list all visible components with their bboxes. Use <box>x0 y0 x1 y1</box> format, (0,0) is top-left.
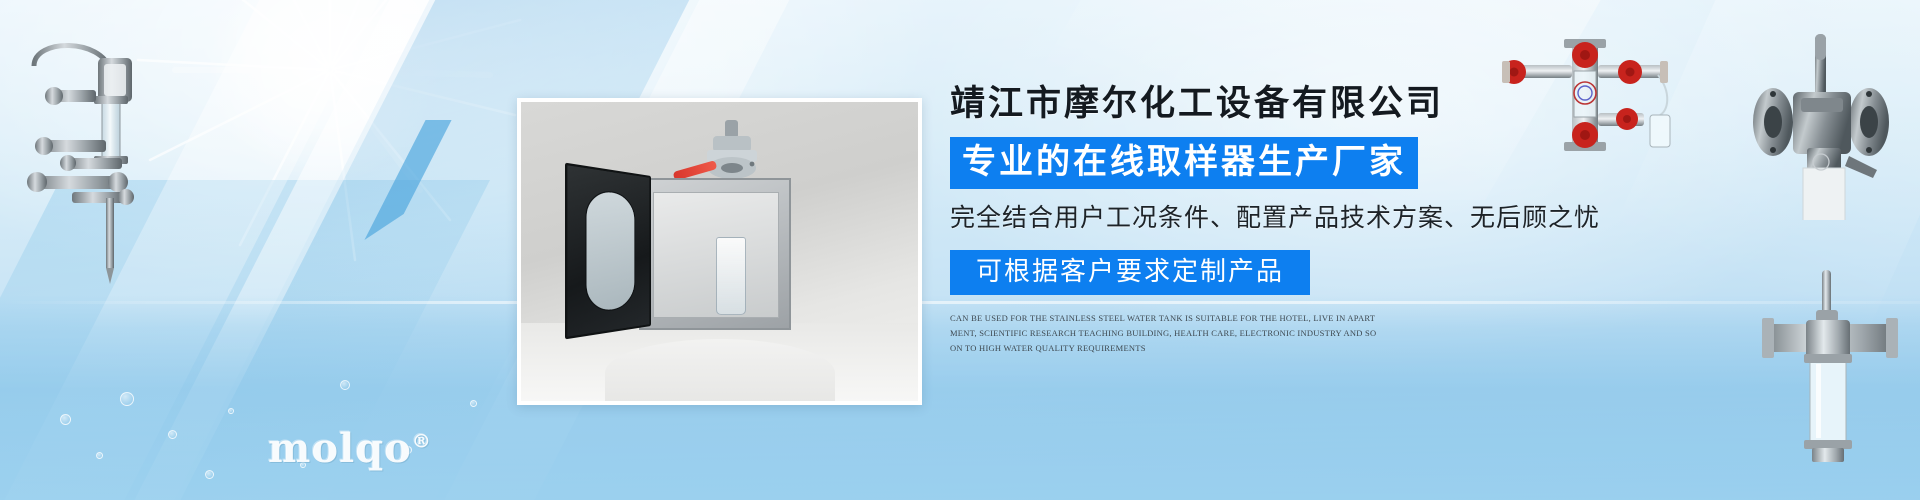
watermark-logo: molqo® <box>268 425 432 472</box>
promo-banner: 靖江市摩尔化工设备有限公司 专业的在线取样器生产厂家 完全结合用户工况条件、配置… <box>0 0 1920 500</box>
english-caption: CAN BE USED FOR THE STAINLESS STEEL WATE… <box>950 311 1380 356</box>
sampling-cabinet-photo <box>517 98 922 405</box>
company-name: 靖江市摩尔化工设备有限公司 <box>950 84 1710 124</box>
water-bubble-icon <box>340 380 350 390</box>
water-bubble-icon <box>205 470 214 479</box>
registered-mark-icon: ® <box>412 431 432 453</box>
water-bubble-icon <box>96 452 103 459</box>
sampler-assembly-image <box>10 30 185 310</box>
water-bubble-icon <box>228 408 234 414</box>
valve-head-icon <box>699 120 765 186</box>
headline-badge: 专业的在线取样器生产厂家 <box>950 137 1418 189</box>
water-bubble-icon <box>470 400 477 407</box>
sun-burst-icon <box>205 0 445 185</box>
water-bubble-icon <box>168 430 177 439</box>
sub-headline: 完全结合用户工况条件、配置产品技术方案、无后顾之忧 <box>950 203 1710 234</box>
water-bubble-icon <box>120 392 134 406</box>
banner-text-block: 靖江市摩尔化工设备有限公司 专业的在线取样器生产厂家 完全结合用户工况条件、配置… <box>950 84 1710 356</box>
valve-body-sampler-image <box>1745 30 1900 220</box>
tagline-badge: 可根据客户要求定制产品 <box>950 250 1310 295</box>
inline-sampler-valve-image <box>1760 270 1900 465</box>
watermark-text: molqo <box>268 425 412 472</box>
water-bubble-icon <box>60 414 71 425</box>
